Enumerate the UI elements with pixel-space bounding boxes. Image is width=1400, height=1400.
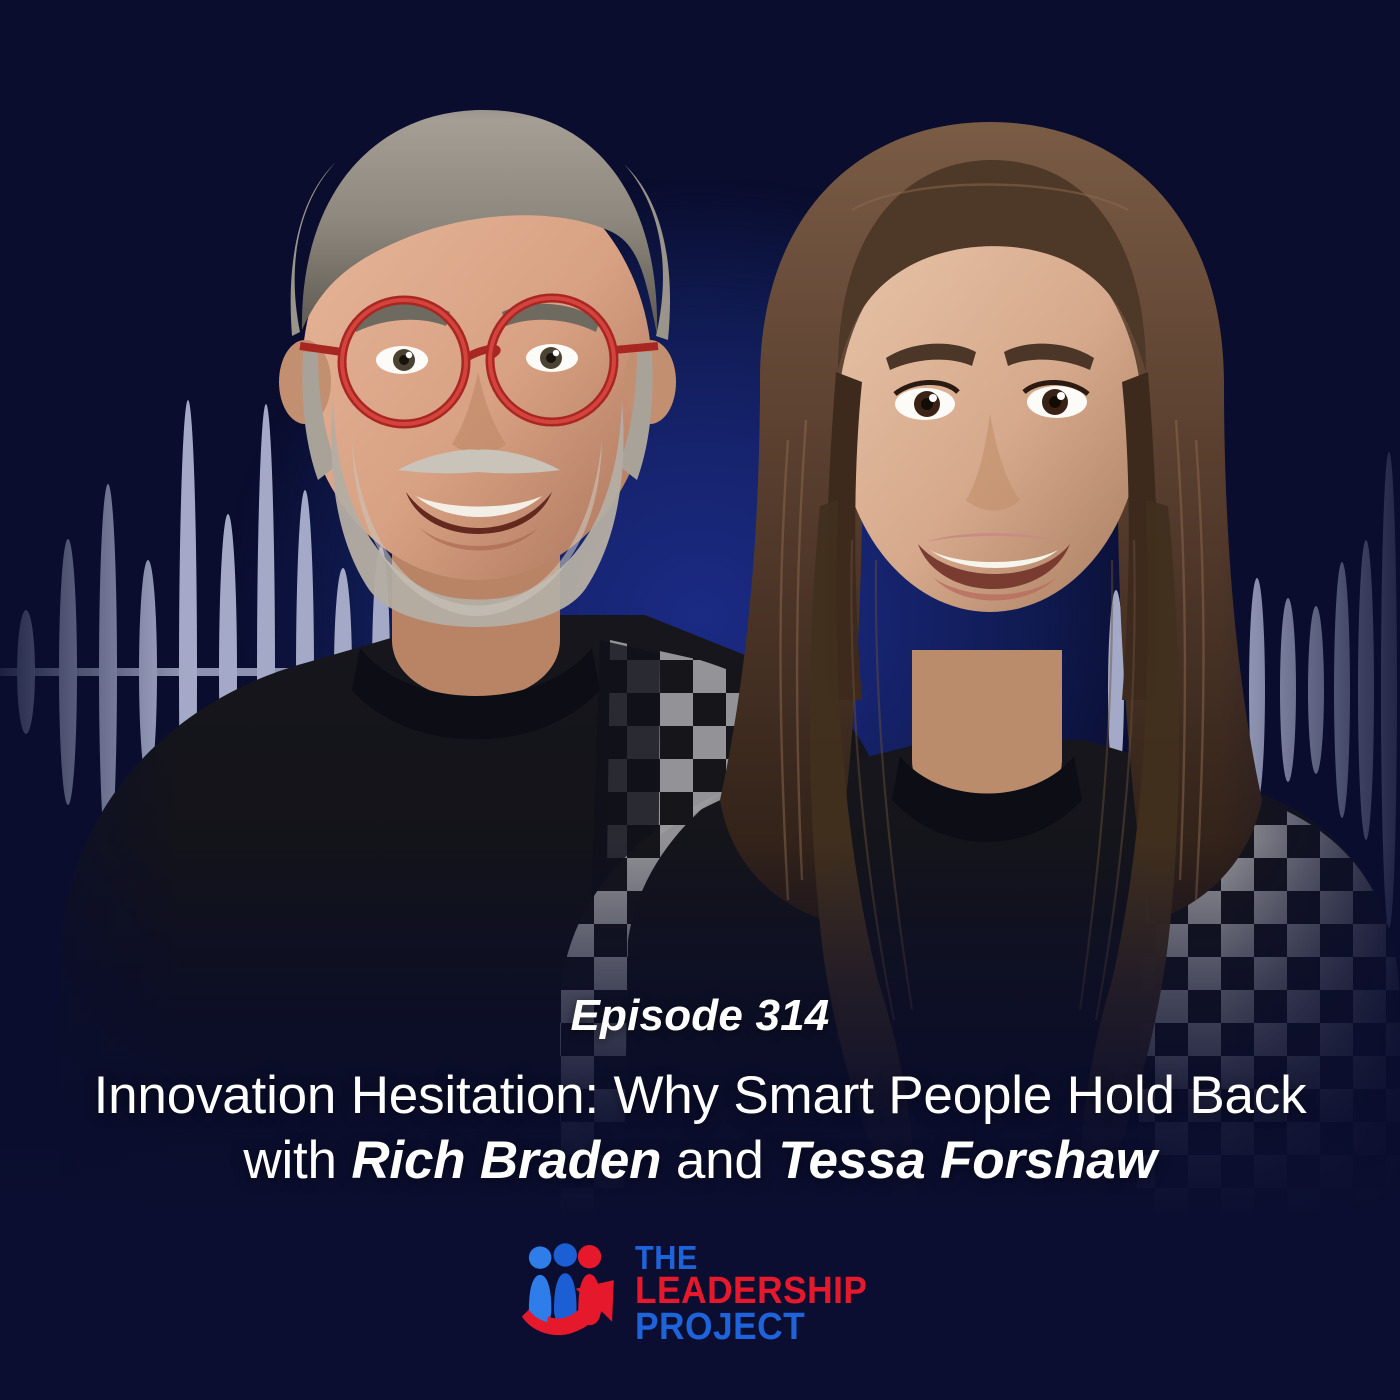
logo-word-project: PROJECT xyxy=(635,1310,867,1346)
logo-word-leadership: LEADERSHIP xyxy=(635,1274,867,1310)
text-block: Episode 314 Innovation Hesitation: Why S… xyxy=(0,994,1400,1400)
guest-name-2: Tessa Forshaw xyxy=(778,1131,1156,1190)
logo-word-the: THE xyxy=(635,1242,867,1273)
logo-wordmark: THE LEADERSHIP PROJECT xyxy=(635,1242,885,1346)
podcast-cover-art: Episode 314 Innovation Hesitation: Why S… xyxy=(0,0,1400,1400)
title-line-2-join: and xyxy=(661,1131,778,1190)
title-line-1: Innovation Hesitation: Why Smart People … xyxy=(94,1066,1307,1125)
episode-label: Episode 314 xyxy=(42,994,1358,1038)
title-line-2-prefix: with xyxy=(243,1131,351,1190)
guest-name-1: Rich Braden xyxy=(351,1131,661,1190)
top-vignette xyxy=(0,0,1400,120)
three-people-arrow-icon xyxy=(515,1242,619,1346)
podcast-logo: THE LEADERSHIP PROJECT xyxy=(42,1242,1358,1346)
episode-title: Innovation Hesitation: Why Smart People … xyxy=(42,1064,1358,1193)
